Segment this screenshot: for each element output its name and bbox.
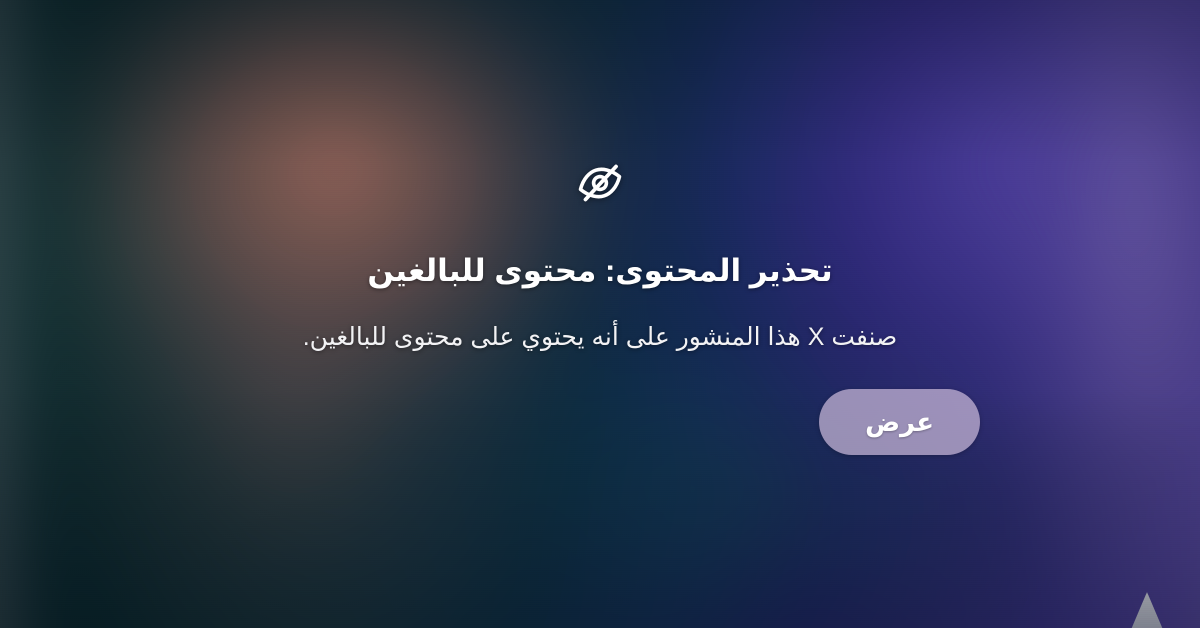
warning-description: صنفت X هذا المنشور على أنه يحتوي على محت… — [303, 321, 898, 355]
warning-overlay: تحذير المحتوى: محتوى للبالغين صنفت X هذا… — [0, 0, 1200, 628]
action-row: عرض — [220, 389, 980, 455]
view-content-button[interactable]: عرض — [819, 389, 980, 455]
eye-off-icon — [573, 156, 627, 210]
warning-title: تحذير المحتوى: محتوى للبالغين — [367, 252, 832, 291]
content-warning-card: تحذير المحتوى: محتوى للبالغين صنفت X هذا… — [0, 0, 1200, 628]
